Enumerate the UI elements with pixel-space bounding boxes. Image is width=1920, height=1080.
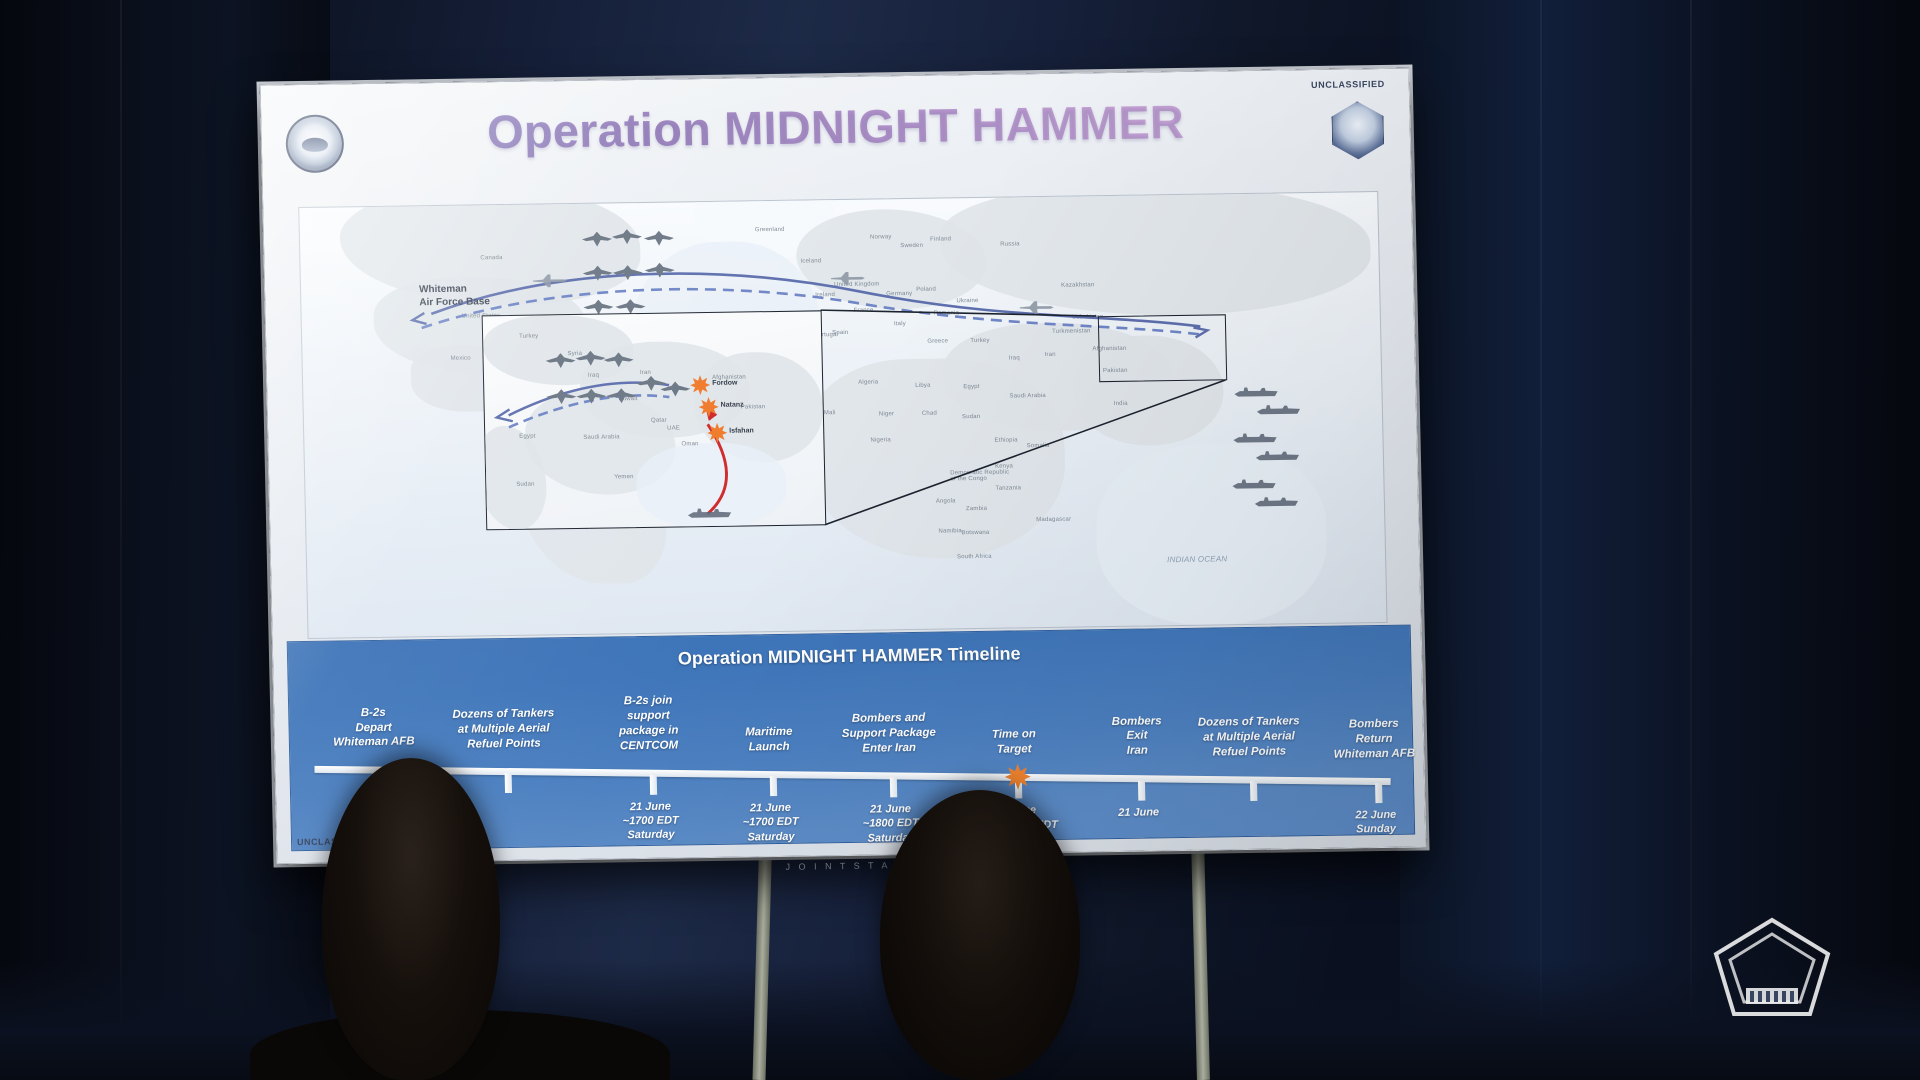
timeline-event-label: Dozens of Tankers at Multiple Aerial Ref…: [433, 706, 574, 753]
timeline-event-label: Time on Target: [944, 727, 1085, 759]
timeline-tick: [1138, 780, 1145, 800]
timeline-tick: [1375, 783, 1382, 803]
timeline-tick: [1250, 781, 1257, 801]
strike-target-label: Fordow: [712, 380, 737, 387]
briefing-board: UNCLASSIFIED Operation MIDNIGHT HAMMER G…: [260, 68, 1427, 865]
title-operation-word: Operation: [487, 102, 725, 159]
timeline-event-label: Dozens of Tankers at Multiple Aerial Ref…: [1179, 714, 1320, 761]
timeline-tick: [505, 773, 512, 793]
timeline-tick: [890, 777, 897, 797]
curtain-fold: [1690, 0, 1692, 1080]
timeline-title: Operation MIDNIGHT HAMMER Timeline: [288, 638, 1410, 676]
timeline-event-date: 21 June: [1068, 804, 1208, 820]
curtain-fold: [1540, 0, 1542, 1080]
timeline-event-label: B-2s Depart Whiteman AFB: [303, 705, 444, 752]
curtain-fold: [120, 0, 122, 1080]
audience-head-silhouette: [322, 758, 500, 1080]
world-map-panel: GreenlandIcelandNorwaySwedenFinlandRussi…: [298, 191, 1387, 639]
inset-connector-lines: [299, 192, 1386, 639]
middle-east-inset-map: TurkeySyriaIraqIranAfghanistanPakistanSa…: [482, 310, 827, 530]
strike-target-label: Natanz: [721, 401, 744, 408]
strike-target-label: Isfahan: [729, 427, 754, 434]
timeline-tick: [650, 775, 657, 795]
audience-head-silhouette: [880, 790, 1080, 1080]
timeline-strike-burst-icon: [1005, 764, 1032, 790]
timeline-event-label: Bombers Return Whiteman AFB: [1304, 716, 1445, 763]
page-title: Operation MIDNIGHT HAMMER: [261, 91, 1410, 163]
classification-marking-top: UNCLASSIFIED: [1311, 79, 1385, 90]
inset-route-dashed: [508, 395, 670, 427]
board-header: UNCLASSIFIED Operation MIDNIGHT HAMMER: [261, 69, 1411, 202]
timeline-event-label: Bombers and Support Package Enter Iran: [818, 710, 959, 757]
pentagon-logo-icon: [1710, 914, 1834, 1024]
curtain-right: [1400, 0, 1920, 1080]
timeline-tick: [770, 776, 777, 796]
timeline-event-date: 22 June Sunday: [1306, 807, 1447, 838]
screenshot-root: UNCLASSIFIED Operation MIDNIGHT HAMMER G…: [0, 0, 1920, 1080]
timeline-event-label: B-2s join support package in CENTCOM: [578, 693, 719, 755]
timeline-axis: [314, 766, 1390, 785]
title-codename: MIDNIGHT HAMMER: [724, 95, 1185, 155]
inset-route-paths: [483, 311, 826, 530]
